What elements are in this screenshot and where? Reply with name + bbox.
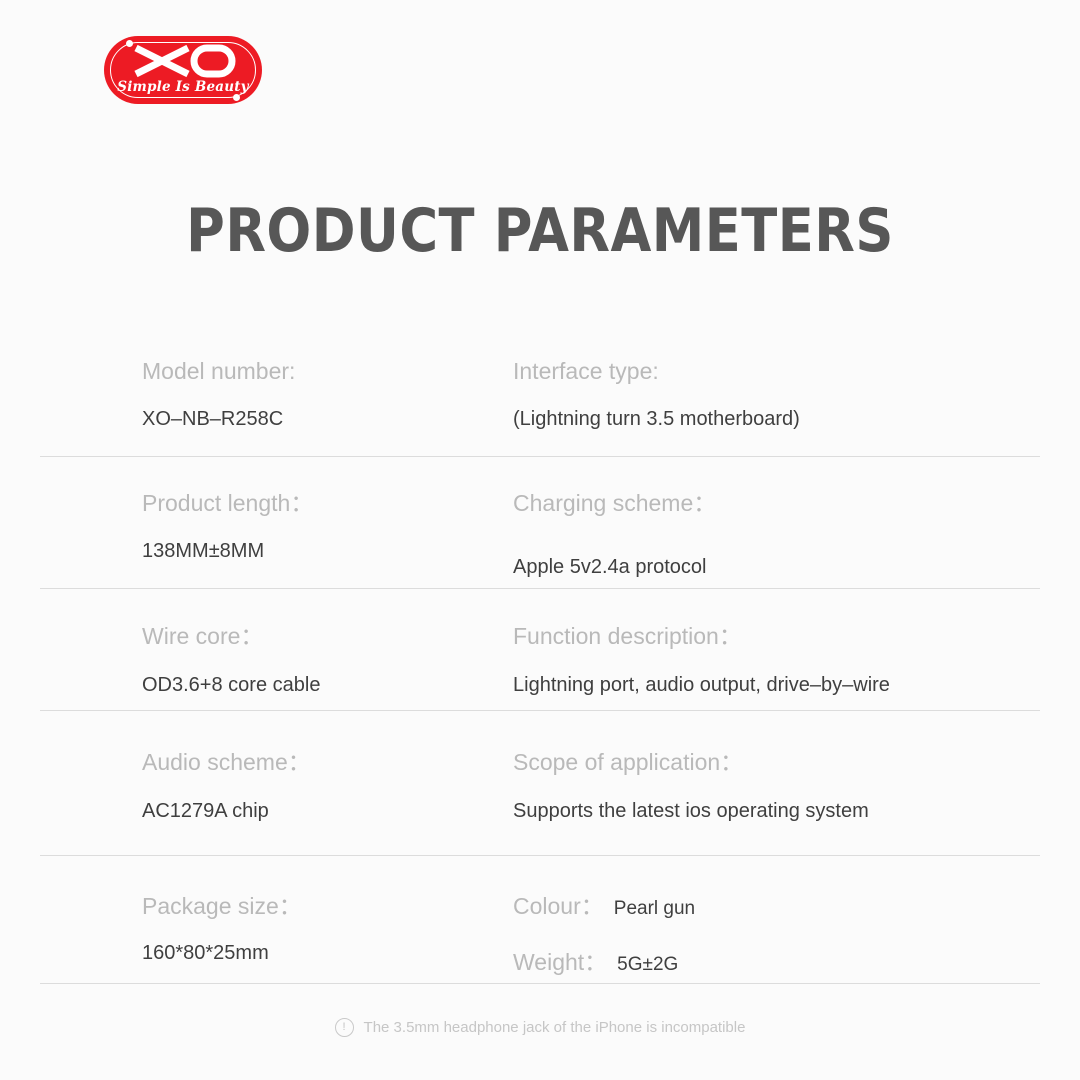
spec-cell-audio-scheme: Audio scheme： AC1279A chip — [40, 711, 425, 855]
table-row: Wire core： OD3.6+8 core cable Function d… — [40, 589, 1040, 711]
spec-value: Supports the latest ios operating system — [513, 777, 1040, 823]
spec-value: OD3.6+8 core cable — [142, 651, 425, 697]
spec-label: Scope of application： — [513, 711, 1040, 777]
spec-value: XO–NB–R258C — [142, 385, 425, 431]
spec-label: Charging scheme： — [513, 457, 1040, 518]
spec-value: Lightning port, audio output, drive–by–w… — [513, 651, 1040, 697]
spec-label: Package size： — [142, 856, 425, 921]
spec-pair-colour: Colour： Pearl gun — [513, 856, 1040, 921]
table-row: Package size： 160*80*25mm Colour： Pearl … — [40, 856, 1040, 984]
compatibility-note-text: The 3.5mm headphone jack of the iPhone i… — [364, 1019, 746, 1036]
spec-value: 5G±2G — [607, 954, 678, 976]
brand-logo: Simple Is Beauty — [104, 36, 262, 104]
spec-cell-interface-type: Interface type: (Lightning turn 3.5 moth… — [425, 330, 1040, 456]
spec-label: Audio scheme： — [142, 711, 425, 777]
spec-value: (Lightning turn 3.5 motherboard) — [513, 385, 1040, 431]
spec-cell-scope-of-application: Scope of application： Supports the lates… — [425, 711, 1040, 855]
spec-label: Weight： — [513, 943, 607, 977]
page-title: PRODUCT PARAMETERS — [65, 196, 1015, 266]
spec-label: Colour： — [513, 887, 604, 921]
product-parameters-table: Model number: XO–NB–R258C Interface type… — [40, 330, 1040, 984]
table-row: Model number: XO–NB–R258C Interface type… — [40, 330, 1040, 457]
spec-cell-package-size: Package size： 160*80*25mm — [40, 856, 425, 983]
spec-label: Interface type: — [513, 330, 1040, 385]
spec-value: 138MM±8MM — [142, 518, 425, 563]
spec-value: Pearl gun — [604, 898, 695, 920]
spec-label: Function description： — [513, 589, 1040, 651]
spec-cell-charging-scheme: Charging scheme： Apple 5v2.4a protocol — [425, 457, 1040, 588]
spec-cell-wire-core: Wire core： OD3.6+8 core cable — [40, 589, 425, 710]
spec-label: Model number: — [142, 330, 425, 385]
spec-label: Wire core： — [142, 589, 425, 651]
logo-xo-mark — [104, 44, 262, 78]
table-row: Audio scheme： AC1279A chip Scope of appl… — [40, 711, 1040, 856]
compatibility-note: ! The 3.5mm headphone jack of the iPhone… — [0, 1018, 1080, 1037]
spec-pair-weight: Weight： 5G±2G — [513, 921, 1040, 977]
spec-cell-model-number: Model number: XO–NB–R258C — [40, 330, 425, 456]
spec-value: 160*80*25mm — [142, 921, 425, 965]
spec-label: Product length： — [142, 457, 425, 518]
logo-tagline: Simple Is Beauty — [104, 79, 262, 95]
spec-value: Apple 5v2.4a protocol — [513, 518, 1040, 579]
spec-cell-function-description: Function description： Lightning port, au… — [425, 589, 1040, 710]
spec-cell-colour-weight: Colour： Pearl gun Weight： 5G±2G — [425, 856, 1040, 983]
exclamation-circle-icon: ! — [335, 1018, 354, 1037]
spec-value: AC1279A chip — [142, 777, 425, 823]
spec-cell-product-length: Product length： 138MM±8MM — [40, 457, 425, 588]
table-row: Product length： 138MM±8MM Charging schem… — [40, 457, 1040, 589]
